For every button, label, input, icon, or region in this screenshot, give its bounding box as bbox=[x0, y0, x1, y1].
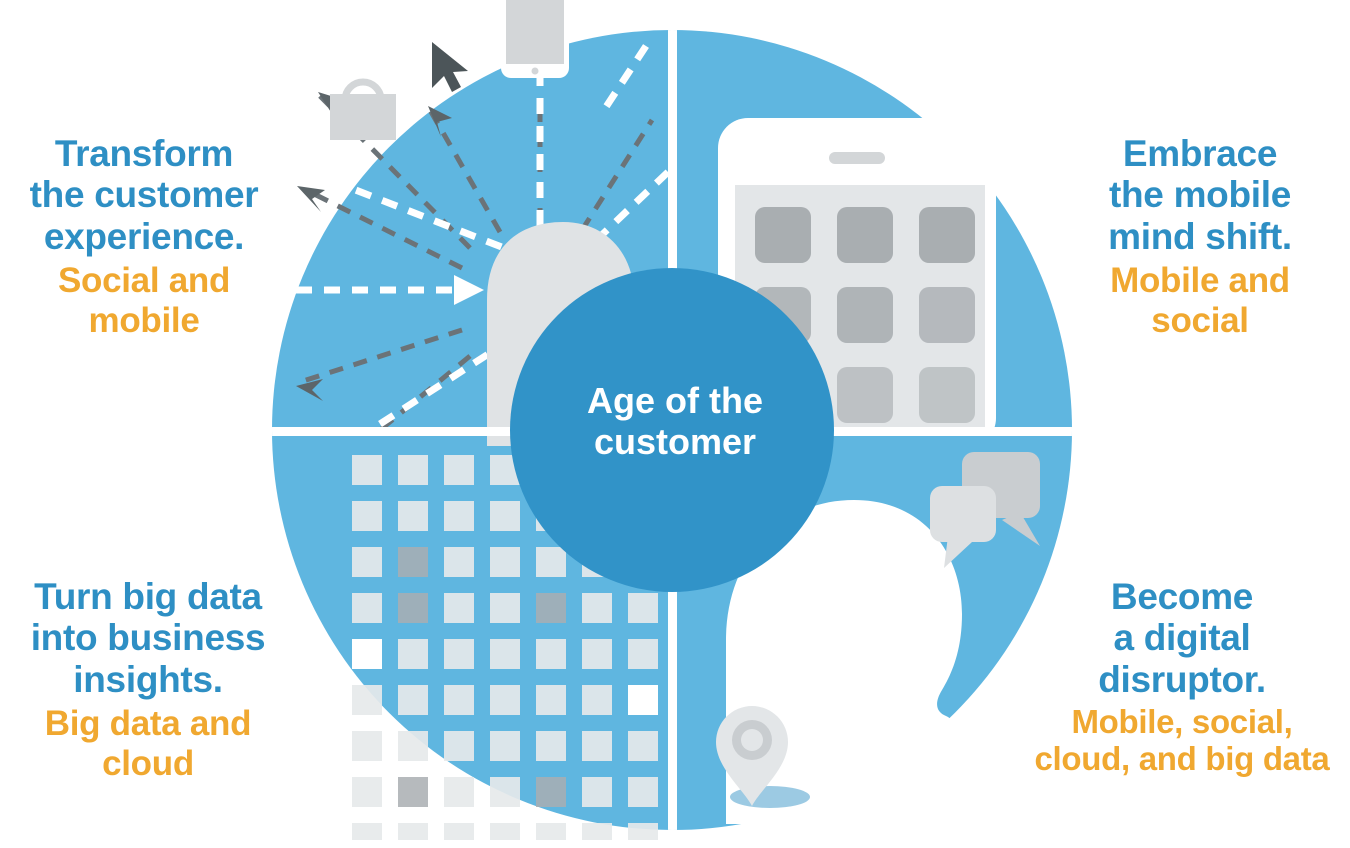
quadrant-subline-top-left: Social and mobile bbox=[8, 261, 280, 339]
data-grid-cell bbox=[352, 455, 382, 485]
data-grid-cell bbox=[490, 501, 520, 531]
data-grid-cell bbox=[536, 639, 566, 669]
data-grid-cell bbox=[536, 593, 566, 623]
quadrant-headline-top-right: Embrace the mobile mind shift. bbox=[1062, 133, 1338, 257]
data-grid-cell bbox=[444, 639, 474, 669]
data-grid-cell bbox=[628, 639, 658, 669]
data-grid-cell bbox=[398, 731, 428, 761]
data-grid-cell bbox=[444, 455, 474, 485]
quadrant-subline-bottom-left: Big data and cloud bbox=[8, 704, 288, 782]
data-grid-cell bbox=[444, 547, 474, 577]
data-grid-cell bbox=[398, 639, 428, 669]
quadrant-subline-top-right: Mobile and social bbox=[1062, 261, 1338, 339]
data-grid-cell bbox=[582, 685, 612, 715]
data-grid-cell bbox=[536, 731, 566, 761]
data-grid-cell bbox=[582, 777, 612, 807]
data-grid-cell bbox=[352, 547, 382, 577]
data-grid-cell bbox=[398, 501, 428, 531]
data-grid-cell bbox=[352, 777, 382, 807]
data-grid-cell bbox=[628, 685, 658, 715]
data-grid-cell bbox=[490, 593, 520, 623]
tablet-icon bbox=[501, 0, 569, 78]
quadrant-text-top-left: Transform the customer experience. Socia… bbox=[8, 133, 280, 340]
data-grid-cell bbox=[490, 639, 520, 669]
data-grid-cell bbox=[536, 777, 566, 807]
data-grid-cell bbox=[536, 547, 566, 577]
data-grid-cell bbox=[628, 593, 658, 623]
data-grid-cell bbox=[490, 685, 520, 715]
data-grid-cell bbox=[536, 685, 566, 715]
quadrant-text-top-right: Embrace the mobile mind shift. Mobile an… bbox=[1062, 133, 1338, 340]
quadrant-headline-bottom-left: Turn big data into business insights. bbox=[8, 576, 288, 700]
quadrant-text-bottom-left: Turn big data into business insights. Bi… bbox=[8, 576, 288, 783]
data-grid-cell bbox=[582, 639, 612, 669]
quadrant-text-bottom-right: Become a digital disruptor. Mobile, soci… bbox=[1014, 576, 1350, 778]
data-grid-cell bbox=[352, 823, 382, 848]
data-grid-cell bbox=[490, 777, 520, 807]
data-grid-cell bbox=[490, 731, 520, 761]
data-grid-cell bbox=[582, 731, 612, 761]
data-grid-cell bbox=[628, 823, 658, 848]
data-grid-cell bbox=[720, 823, 750, 848]
data-grid-cell bbox=[444, 501, 474, 531]
data-grid-cell bbox=[352, 685, 382, 715]
data-grid-cell bbox=[352, 501, 382, 531]
data-grid-cell bbox=[398, 777, 428, 807]
data-grid-cell bbox=[352, 639, 382, 669]
data-grid-cell bbox=[398, 823, 428, 848]
quadrant-headline-top-left: Transform the customer experience. bbox=[8, 133, 280, 257]
data-grid-cell bbox=[352, 593, 382, 623]
data-grid-cell bbox=[490, 823, 520, 848]
data-grid-cell bbox=[444, 685, 474, 715]
data-grid-cell bbox=[582, 593, 612, 623]
data-grid-cell bbox=[490, 547, 520, 577]
data-grid-cell bbox=[398, 547, 428, 577]
quadrant-headline-bottom-right: Become a digital disruptor. bbox=[1014, 576, 1350, 700]
data-grid-cell bbox=[582, 823, 612, 848]
center-hub-circle bbox=[510, 268, 834, 592]
data-grid-cell bbox=[352, 731, 382, 761]
phone-speaker-icon bbox=[829, 152, 885, 164]
data-grid-cell bbox=[398, 593, 428, 623]
data-grid-cell bbox=[444, 731, 474, 761]
shopping-bag-icon bbox=[330, 82, 396, 140]
data-grid-cell bbox=[398, 455, 428, 485]
infographic-canvas: Transform the customer experience. Socia… bbox=[0, 0, 1350, 848]
data-grid-cell bbox=[536, 823, 566, 848]
cursor-arrow-icon bbox=[432, 42, 468, 92]
data-grid-cell bbox=[628, 731, 658, 761]
data-grid-cell bbox=[444, 823, 474, 848]
data-grid-cell bbox=[444, 777, 474, 807]
data-grid-cell bbox=[628, 777, 658, 807]
data-grid-cell bbox=[444, 593, 474, 623]
data-grid-cell bbox=[398, 685, 428, 715]
data-grid-cell bbox=[766, 823, 796, 848]
quadrant-subline-bottom-right: Mobile, social, cloud, and big data bbox=[1014, 704, 1350, 778]
